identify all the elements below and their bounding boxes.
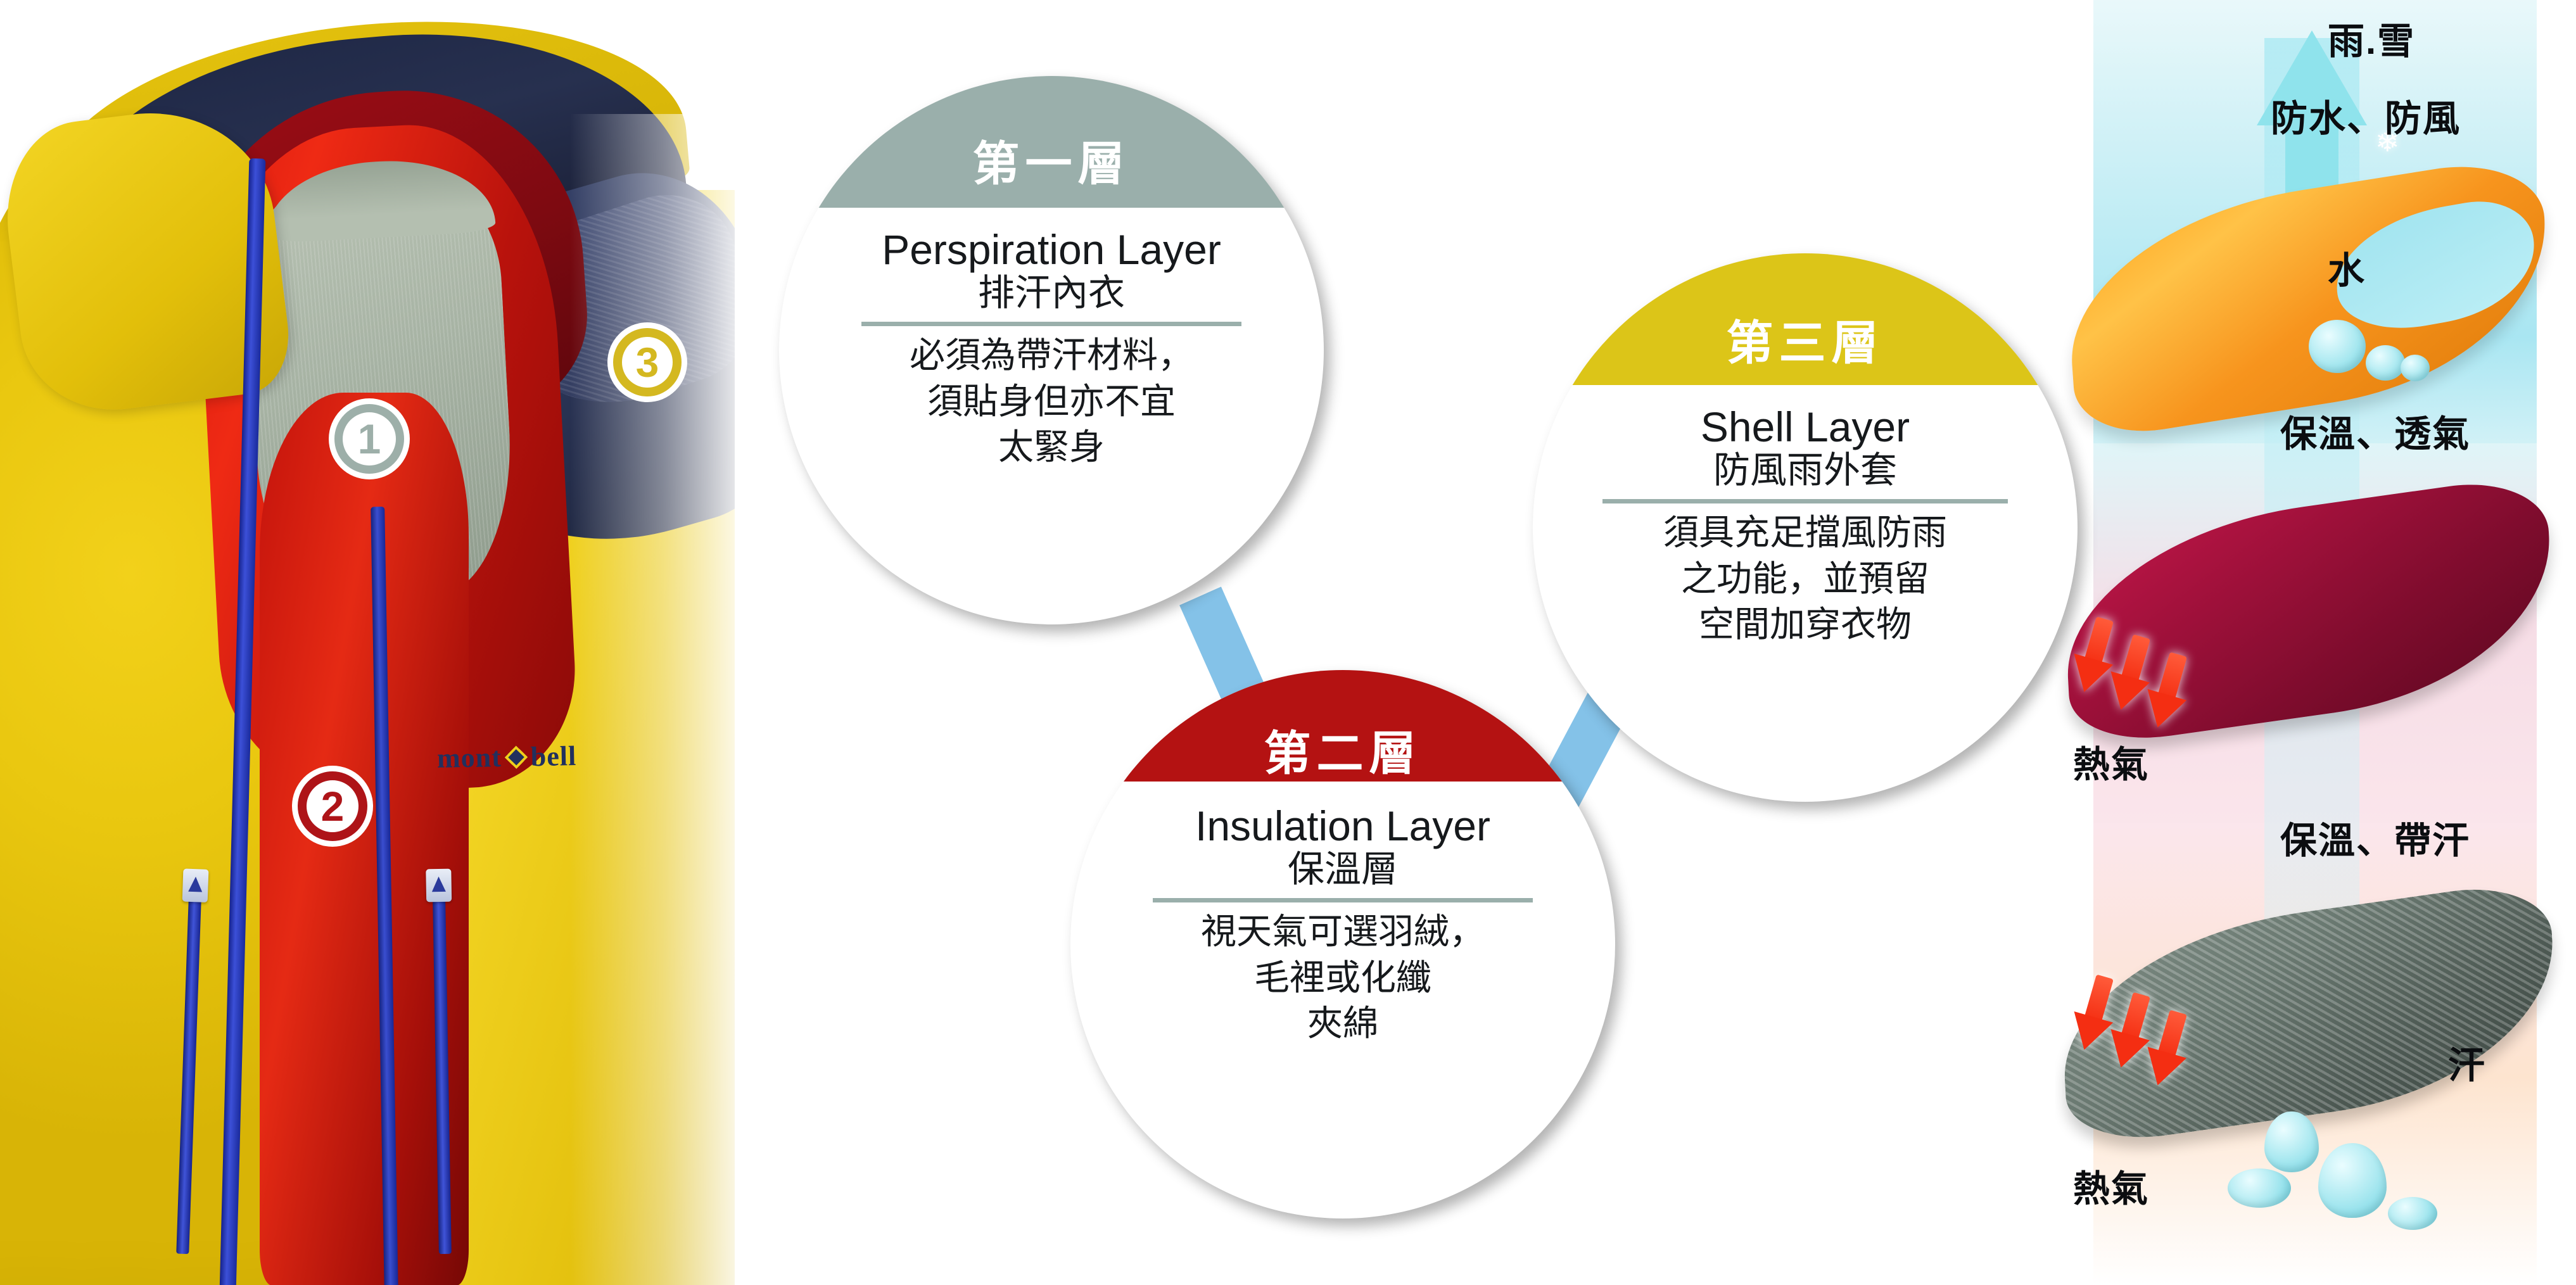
label-heat-lower: 熱氣 <box>2073 1159 2149 1212</box>
bubble-1-header: 第一層 <box>779 76 1324 208</box>
sweat-droplet-icon <box>2388 1197 2437 1230</box>
bubble-1-divider <box>861 322 1241 326</box>
label-rain-snow: 雨.雪 <box>2328 11 2415 65</box>
marker-3[interactable]: 3 <box>613 328 682 396</box>
bubble-3-body: Shell Layer 防風雨外套 須具充足擋風防雨之功能，並預留空間加穿衣物 <box>1533 389 2078 648</box>
jacket-photo: mont bell 1 2 3 <box>0 0 735 1285</box>
layer-function-diagram: ❄ ❄ ❄ ❄ 雨.雪 防水、防風 水 保溫、透氣 熱氣 保溫、帶汗 熱氣 汗 <box>2055 0 2576 1285</box>
label-warm-wicking: 保溫、帶汗 <box>2280 811 2470 864</box>
bubble-1-description: 必須為帶汗材料，須貼身但亦不宜太緊身 <box>910 332 1193 471</box>
bubble-2-description: 視天氣可選羽絨，毛裡或化纖夾綿 <box>1201 909 1485 1047</box>
bubble-2-title-zh: 保溫層 <box>1288 848 1398 890</box>
bubble-2-body: Insulation Layer 保溫層 視天氣可選羽絨，毛裡或化纖夾綿 <box>1070 788 1615 1047</box>
montbell-logo-left: mont <box>437 741 502 775</box>
marker-1-label: 1 <box>358 418 381 460</box>
water-droplet-icon <box>2401 355 2430 381</box>
zipper-pull-icon <box>426 869 452 902</box>
montbell-logo: mont bell <box>437 740 577 775</box>
bubble-3-title-zh: 防風雨外套 <box>1713 449 1897 491</box>
bubble-3-description: 須具充足擋風防雨之功能，並預留空間加穿衣物 <box>1663 510 1947 648</box>
label-water: 水 <box>2328 241 2366 294</box>
bubble-shell-layer[interactable]: 第三層 Shell Layer 防風雨外套 須具充足擋風防雨之功能，並預留空間加… <box>1533 253 2078 802</box>
label-waterproof-windproof: 防水、防風 <box>2271 89 2461 142</box>
bubble-3-header: 第三層 <box>1533 253 2078 385</box>
bubble-2-header: 第二層 <box>1070 670 1615 782</box>
label-heat-upper: 熱氣 <box>2073 735 2149 788</box>
bubble-2-divider <box>1153 898 1533 902</box>
water-droplet-icon <box>2309 320 2366 373</box>
diamond-icon <box>504 745 528 769</box>
sweat-droplet-icon <box>2228 1168 2291 1208</box>
montbell-logo-right: bell <box>530 740 576 773</box>
bubble-3-title-en: Shell Layer <box>1701 405 1910 449</box>
zipper-pull-icon <box>182 869 209 902</box>
label-sweat: 汗 <box>2448 1035 2486 1089</box>
bubble-1-body: Perspiration Layer 排汗內衣 必須為帶汗材料，須貼身但亦不宜太… <box>779 212 1324 471</box>
marker-2[interactable]: 2 <box>298 771 367 841</box>
bubble-2-title-en: Insulation Layer <box>1195 804 1490 848</box>
bubble-3-divider <box>1602 499 2008 503</box>
label-warm-breathable: 保溫、透氣 <box>2280 404 2470 457</box>
bubble-1-title-en: Perspiration Layer <box>882 228 1221 272</box>
bubble-1-title-zh: 排汗內衣 <box>978 272 1125 314</box>
marker-1[interactable]: 1 <box>334 404 404 474</box>
bubble-insulation-layer[interactable]: 第二層 Insulation Layer 保溫層 視天氣可選羽絨，毛裡或化纖夾綿 <box>1070 670 1615 1219</box>
photo-fade-mask <box>570 114 735 1285</box>
marker-3-label: 3 <box>636 341 659 383</box>
water-droplet-icon <box>2366 345 2405 381</box>
marker-2-label: 2 <box>321 785 345 827</box>
bubble-perspiration-layer[interactable]: 第一層 Perspiration Layer 排汗內衣 必須為帶汗材料，須貼身但… <box>779 76 1324 624</box>
